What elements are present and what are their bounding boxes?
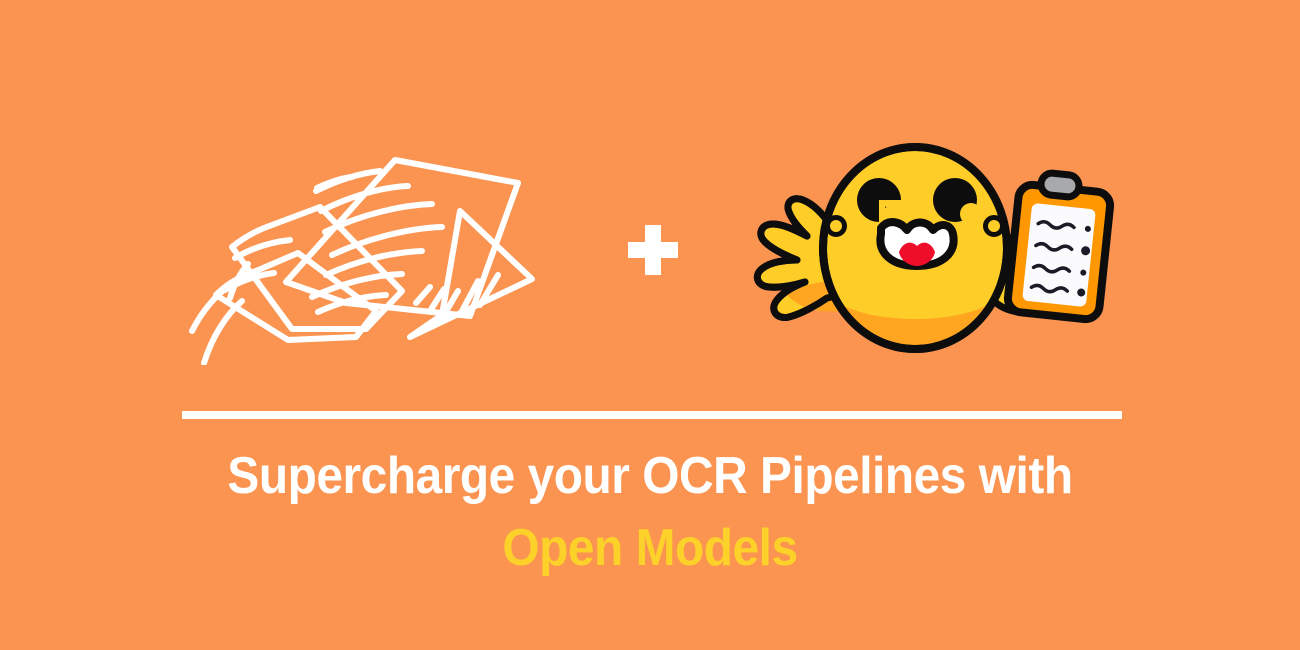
clipboard-icon — [1007, 172, 1112, 320]
document-stack-icon — [180, 115, 560, 365]
page-title: Supercharge your OCR Pipelines with Open… — [0, 440, 1300, 584]
mascot-face — [819, 147, 1011, 370]
banner: Supercharge your OCR Pipelines with Open… — [0, 0, 1300, 650]
headline-line-1: Supercharge your OCR Pipelines with — [52, 440, 1248, 512]
headline-line-2: Open Models — [52, 512, 1248, 584]
horizontal-rule — [182, 411, 1122, 419]
illustration-row — [0, 95, 1300, 380]
mascot-mouth — [880, 222, 953, 266]
smiley-mascot-with-clipboard-icon — [735, 130, 1135, 370]
plus-icon — [618, 215, 688, 285]
